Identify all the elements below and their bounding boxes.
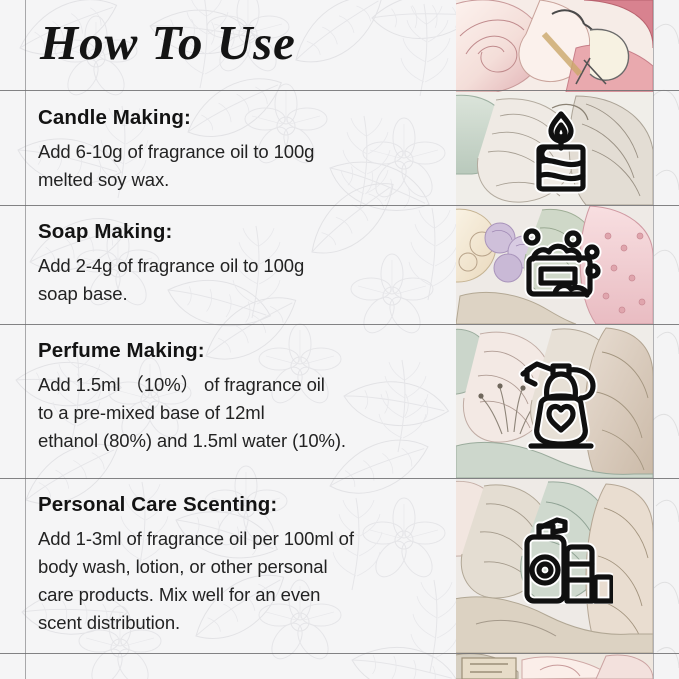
section-soap-making: Soap Making: Add 2-4g of fragrance oil t… bbox=[0, 205, 679, 324]
section-heading-candle-making: Candle Making: bbox=[38, 105, 438, 131]
section-text-block: Personal Care Scenting: Add 1-3ml of fra… bbox=[38, 492, 438, 637]
divider-rule-5 bbox=[0, 653, 679, 654]
section-candle-making: Candle Making: Add 6-10g of fragrance oi… bbox=[0, 90, 679, 205]
section-heading-perfume-making: Perfume Making: bbox=[38, 338, 438, 364]
soap-bar-icon bbox=[509, 221, 613, 307]
section-body-personal-care-scenting: Add 1-3ml of fragrance oil per 100ml of … bbox=[38, 525, 438, 637]
candle-icon bbox=[509, 104, 613, 194]
section-personal-care-scenting: Personal Care Scenting: Add 1-3ml of fra… bbox=[0, 478, 679, 653]
page-title: How To Use bbox=[40, 12, 296, 74]
section-heading-soap-making: Soap Making: bbox=[38, 219, 438, 245]
body-care-bottles-icon bbox=[509, 510, 613, 604]
how-to-use-infographic: How To Use Candle Making: Add 6-10g of f… bbox=[0, 0, 679, 679]
title-area: How To Use bbox=[0, 0, 456, 90]
section-text-block: Soap Making: Add 2-4g of fragrance oil t… bbox=[38, 219, 438, 308]
section-body-perfume-making: Add 1.5ml （10%） of fragrance oil to a pr… bbox=[38, 371, 438, 455]
section-heading-personal-care-scenting: Personal Care Scenting: bbox=[38, 492, 438, 518]
section-perfume-making: Perfume Making: Add 1.5ml （10%） of fragr… bbox=[0, 324, 679, 478]
perfume-atomizer-icon bbox=[509, 358, 613, 450]
section-text-block: Perfume Making: Add 1.5ml （10%） of fragr… bbox=[38, 338, 438, 455]
section-text-block: Candle Making: Add 6-10g of fragrance oi… bbox=[38, 105, 438, 194]
section-body-soap-making: Add 2-4g of fragrance oil to 100g soap b… bbox=[38, 252, 438, 308]
section-body-candle-making: Add 6-10g of fragrance oil to 100g melte… bbox=[38, 138, 438, 194]
